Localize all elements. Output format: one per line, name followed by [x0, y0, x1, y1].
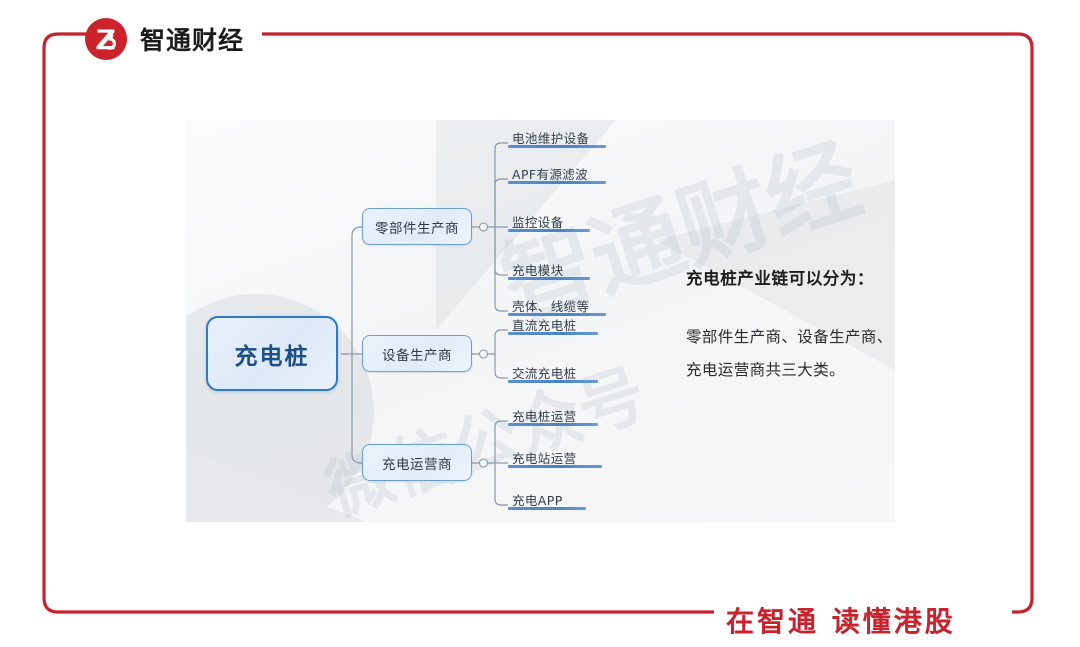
leaf-underline-bar	[508, 423, 598, 426]
mindmap-root-label: 充电桩	[235, 337, 310, 371]
caption-title: 充电桩产业链可以分为：	[686, 265, 938, 289]
caption-body-line-1: 零部件生产商、设备生产商、	[686, 321, 938, 354]
mindmap-branch-label-3: 充电运营商	[382, 453, 452, 473]
leaf-underline-bar	[508, 181, 606, 184]
mindmap-branch-label-2: 设备生产商	[382, 344, 452, 364]
mindmap-branch-node-1[interactable]: 零部件生产商	[362, 208, 472, 245]
caption-block: 充电桩产业链可以分为： 零部件生产商、设备生产商、 充电运营商共三大类。	[686, 265, 938, 387]
page-root: 智通财经 智通财经 微信公众号	[0, 0, 1080, 647]
leaf-underline-bar	[508, 145, 606, 148]
brand-header: 智通财经	[84, 17, 244, 61]
caption-body: 零部件生产商、设备生产商、 充电运营商共三大类。	[686, 321, 938, 387]
leaf-underline-bar	[508, 277, 590, 280]
leaf-underline-bar	[508, 380, 598, 383]
leaf-underline-bar	[508, 465, 602, 468]
mindmap-branch-node-2[interactable]: 设备生产商	[362, 335, 472, 372]
leaf-underline-bar	[508, 229, 590, 232]
mindmap-branch-label-1: 零部件生产商	[375, 217, 459, 237]
mindmap-branch-node-3[interactable]: 充电运营商	[362, 444, 472, 481]
leaf-underline-bar	[508, 507, 586, 510]
brand-name: 智通财经	[140, 21, 244, 57]
caption-body-line-2: 充电运营商共三大类。	[686, 354, 938, 387]
mindmap-root-node[interactable]: 充电桩	[206, 316, 338, 391]
footer-slogan: 在智通 读懂港股	[726, 600, 956, 640]
zhitong-circle-logo-icon	[84, 17, 128, 61]
leaf-underline-bar	[508, 332, 598, 335]
